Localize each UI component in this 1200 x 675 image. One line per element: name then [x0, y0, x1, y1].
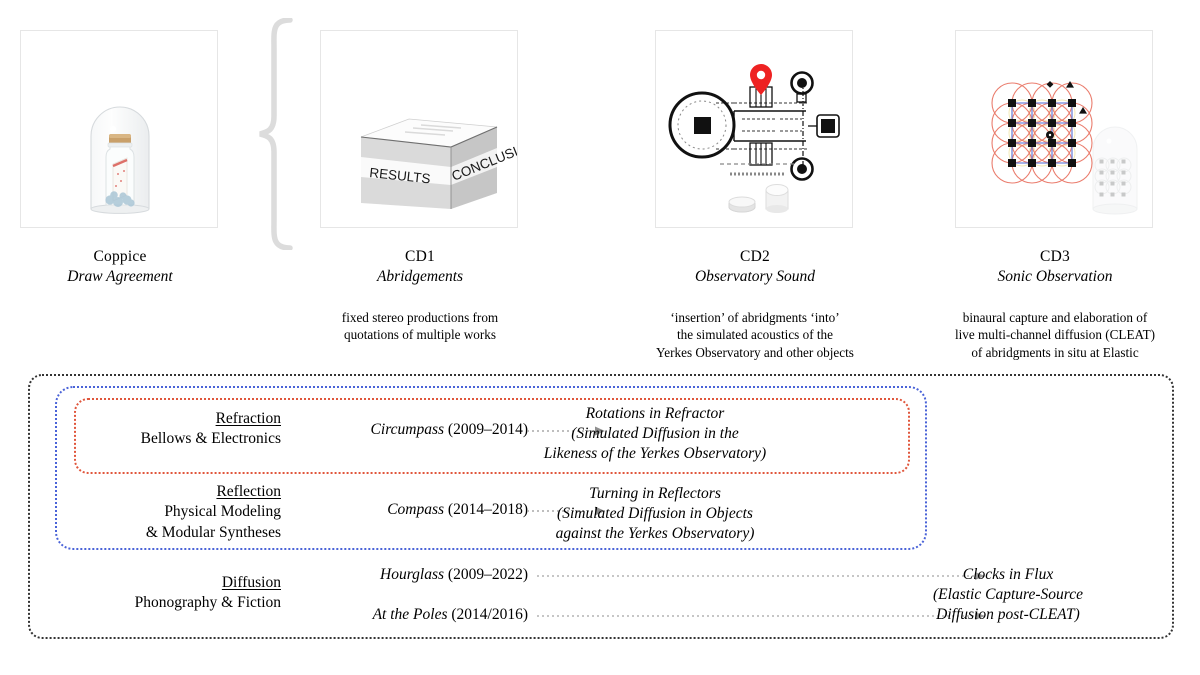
panel-caption: fixed stereo productions from quotations…	[306, 309, 534, 344]
work-at-the-poles: At the Poles (2014/2016)	[268, 605, 528, 625]
panel-cd1: RESULTS CONCLUSION CD1 Abridgements fixe…	[320, 30, 520, 344]
panel-caption: ‘insertion’ of abridgments ‘into’ the si…	[625, 309, 885, 362]
panel-subtitle: Sonic Observation	[955, 267, 1155, 287]
panel-subtitle: Draw Agreement	[20, 267, 220, 287]
row-sub-reflection: Physical Modeling & Modular Syntheses	[0, 502, 281, 543]
panel-image-frame	[955, 30, 1153, 228]
panel-subtitle: Observatory Sound	[655, 267, 855, 287]
results-conclusion-box-photo: RESULTS CONCLUSION	[321, 31, 518, 228]
row-label-reflection: Reflection Physical Modeling & Modular S…	[0, 482, 281, 543]
panel-image-frame: RESULTS CONCLUSION	[320, 30, 518, 228]
panel-cd3: CD3 Sonic Observation binaural capture a…	[955, 30, 1155, 361]
observatory-floorplan-diagram	[656, 31, 853, 228]
curly-brace-icon	[252, 18, 322, 250]
work-hourglass: Hourglass (2009–2022)	[268, 565, 528, 585]
panel-subtitle: Abridgements	[320, 267, 520, 287]
outcome-rotations-in-refractor: Rotations in Refractor (Simulated Diffus…	[485, 404, 825, 464]
curly-brace	[252, 18, 322, 250]
panel-image-frame	[655, 30, 853, 228]
row-head-refraction: Refraction	[0, 409, 281, 429]
tealight-candles	[729, 185, 788, 214]
panel-row: Coppice Draw Agreement RESULTS CONCL	[0, 0, 1200, 345]
row-sub-diffusion: Phonography & Fiction	[0, 593, 281, 613]
row-sub-refraction: Bellows & Electronics	[0, 429, 281, 449]
work-years: (2014/2016)	[451, 606, 528, 623]
panel-title: CD2	[655, 247, 855, 267]
row-head-reflection: Reflection	[0, 482, 281, 502]
work-title: Circumpass	[371, 421, 445, 438]
outcome-turning-in-reflectors: Turning in Reflectors (Simulated Diffusi…	[485, 484, 825, 544]
row-head-diffusion: Diffusion	[0, 573, 281, 593]
row-label-diffusion: Diffusion Phonography & Fiction	[0, 573, 281, 614]
row-label-refraction: Refraction Bellows & Electronics	[0, 409, 281, 450]
work-title: At the Poles	[373, 606, 448, 623]
panel-title: CD1	[320, 247, 520, 267]
panel-caption: binaural capture and elaboration of live…	[927, 309, 1183, 362]
work-title: Hourglass	[380, 566, 444, 583]
map-pin-icon	[750, 64, 772, 95]
outcome-clocks-in-flux: Clocks in Flux (Elastic Capture-Source D…	[838, 565, 1178, 625]
cleat-speaker-grid-diagram	[956, 31, 1153, 228]
panel-title: CD3	[955, 247, 1155, 267]
bell-jar-bottle-photo	[21, 31, 218, 228]
panel-cd2: CD2 Observatory Sound ‘insertion’ of abr…	[655, 30, 855, 361]
bell-jar-ghost	[1093, 127, 1137, 214]
panel-coppice: Coppice Draw Agreement	[20, 30, 220, 309]
panel-title: Coppice	[20, 247, 220, 267]
work-years: (2009–2022)	[448, 566, 528, 583]
work-title: Compass	[387, 501, 444, 518]
panel-image-frame	[20, 30, 218, 228]
